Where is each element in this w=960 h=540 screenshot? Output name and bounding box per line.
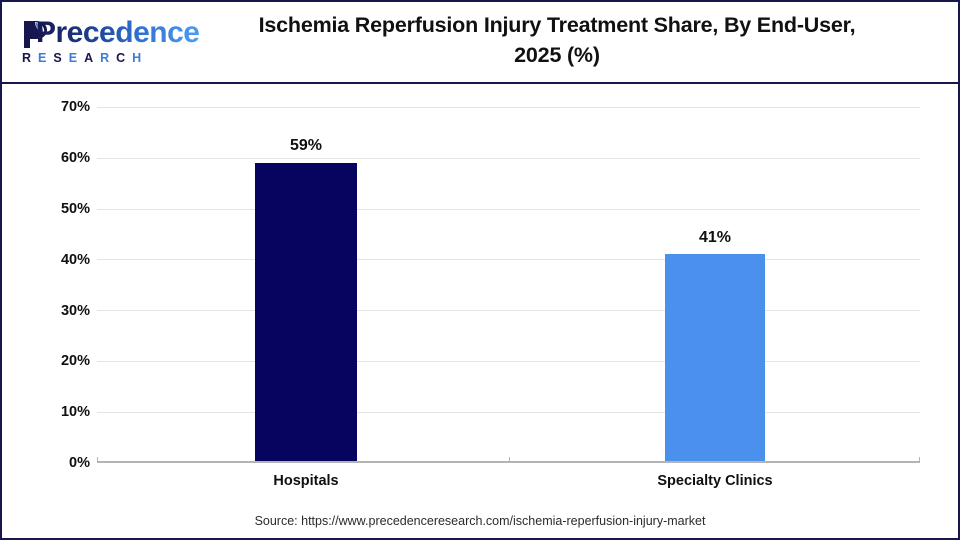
- title-line-1: Ischemia Reperfusion Injury Treatment Sh…: [259, 13, 856, 37]
- bar-value-label-specialty-clinics: 41%: [644, 229, 786, 247]
- y-tick-label: 60%: [32, 151, 90, 165]
- y-tick-label: 0%: [32, 456, 90, 470]
- y-tick-label: 10%: [32, 405, 90, 419]
- y-tick-label: 50%: [32, 202, 90, 216]
- header-separator: [2, 82, 958, 84]
- y-tick-label: 30%: [32, 304, 90, 318]
- x-axis-tick: [919, 457, 920, 463]
- gridline: [97, 310, 920, 311]
- plot-area: [97, 107, 920, 462]
- x-axis-tick: [97, 457, 98, 463]
- gridline: [97, 412, 920, 413]
- gridline: [97, 209, 920, 210]
- bar-specialty-clinics[interactable]: [665, 254, 765, 462]
- y-axis: 70% 60% 50% 40% 30% 20% 10% 0%: [22, 2, 90, 540]
- gridline: [97, 259, 920, 260]
- y-tick-label: 70%: [32, 100, 90, 114]
- page-title: Ischemia Reperfusion Injury Treatment Sh…: [192, 10, 922, 70]
- title-line-2: 2025 (%): [514, 43, 600, 67]
- x-category-label-hospitals: Hospitals: [235, 473, 377, 489]
- gridline: [97, 107, 920, 108]
- x-axis-tick: [509, 457, 510, 463]
- chart-figure: Precedence RESEARCH Ischemia Reperfusion…: [0, 0, 960, 540]
- bar-value-label-hospitals: 59%: [235, 137, 377, 155]
- source-note: Source: https://www.precedenceresearch.c…: [2, 514, 958, 529]
- gridline: [97, 361, 920, 362]
- x-category-label-specialty-clinics: Specialty Clinics: [639, 473, 791, 489]
- y-tick-label: 40%: [32, 253, 90, 267]
- figure-header: Precedence RESEARCH Ischemia Reperfusion…: [2, 2, 958, 82]
- gridline: [97, 158, 920, 159]
- bar-hospitals[interactable]: [255, 163, 357, 462]
- y-tick-label: 20%: [32, 354, 90, 368]
